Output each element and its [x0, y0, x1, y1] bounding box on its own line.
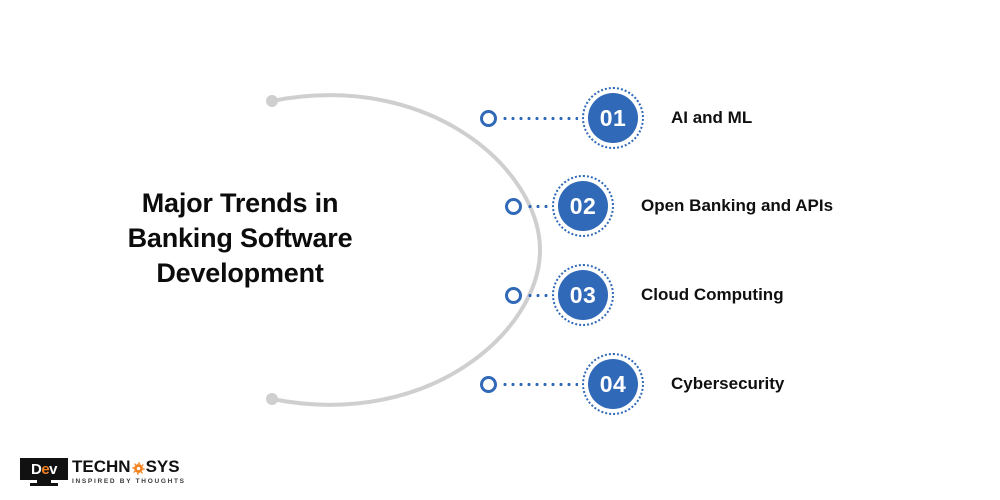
- number-badge-1: 01: [582, 87, 644, 149]
- page-title: Major Trends in Banking Software Develop…: [60, 186, 420, 291]
- node-marker-icon-3: [505, 287, 522, 304]
- trend-item-1[interactable]: 01 AI and ML: [480, 83, 752, 153]
- node-marker-icon-1: [480, 110, 497, 127]
- logo-badge-suffix: v: [49, 461, 57, 478]
- logo-badge-text: Dev: [31, 462, 57, 477]
- infographic-canvas: Major Trends in Banking Software Develop…: [0, 0, 1000, 500]
- number-badge-2: 02: [552, 175, 614, 237]
- trend-label-3: Cloud Computing: [641, 285, 784, 305]
- arc-endpoint-bottom-dot: [266, 393, 278, 405]
- logo-wordmark: TECHN: [72, 458, 186, 476]
- trend-item-3[interactable]: 03 Cloud Computing: [505, 260, 784, 330]
- brand-logo: Dev TECHN: [20, 458, 186, 486]
- dotted-connector-3: [526, 294, 548, 297]
- logo-word-first: TECHN: [72, 458, 131, 476]
- badge-number-4: 04: [600, 371, 627, 398]
- page-title-line-2: Banking Software: [60, 221, 420, 256]
- logo-badge-accent: e: [41, 461, 49, 478]
- node-marker-icon-4: [480, 376, 497, 393]
- badge-number-1: 01: [600, 105, 627, 132]
- logo-wordmark-block: TECHN: [72, 458, 186, 486]
- dotted-connector-2: [526, 205, 548, 208]
- dotted-connector-1: [501, 117, 578, 120]
- number-badge-3: 03: [552, 264, 614, 326]
- node-marker-icon-2: [505, 198, 522, 215]
- page-title-line-3: Development: [60, 256, 420, 291]
- trend-label-2: Open Banking and APIs: [641, 196, 833, 216]
- trend-label-4: Cybersecurity: [671, 374, 784, 394]
- logo-badge-prefix: D: [31, 461, 41, 478]
- gear-icon: [132, 461, 145, 474]
- badge-number-3: 03: [570, 282, 597, 309]
- monitor-icon: Dev: [20, 458, 68, 480]
- logo-tagline: INSPIRED BY THOUGHTS: [72, 477, 186, 486]
- badge-number-2: 02: [570, 193, 597, 220]
- trend-label-1: AI and ML: [671, 108, 752, 128]
- trend-item-4[interactable]: 04 Cybersecurity: [480, 349, 784, 419]
- number-badge-4: 04: [582, 353, 644, 415]
- arc-endpoint-top-dot: [266, 95, 278, 107]
- page-title-line-1: Major Trends in: [60, 186, 420, 221]
- dotted-connector-4: [501, 383, 578, 386]
- trend-item-2[interactable]: 02 Open Banking and APIs: [505, 171, 833, 241]
- logo-word-last: SYS: [146, 458, 180, 476]
